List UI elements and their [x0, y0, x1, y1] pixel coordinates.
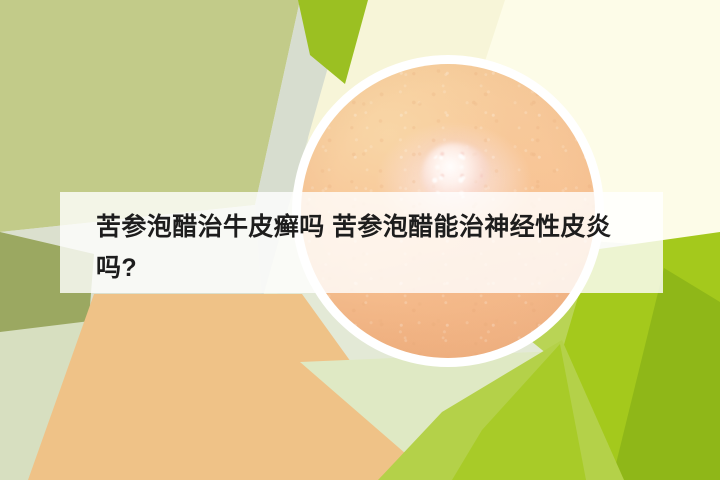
page-title: 苦参泡醋治牛皮癣吗 苦参泡醋能治神经性皮炎吗?: [96, 207, 646, 289]
article-thumbnail-banner: 苦参泡醋治牛皮癣吗 苦参泡醋能治神经性皮炎吗?: [0, 0, 720, 480]
